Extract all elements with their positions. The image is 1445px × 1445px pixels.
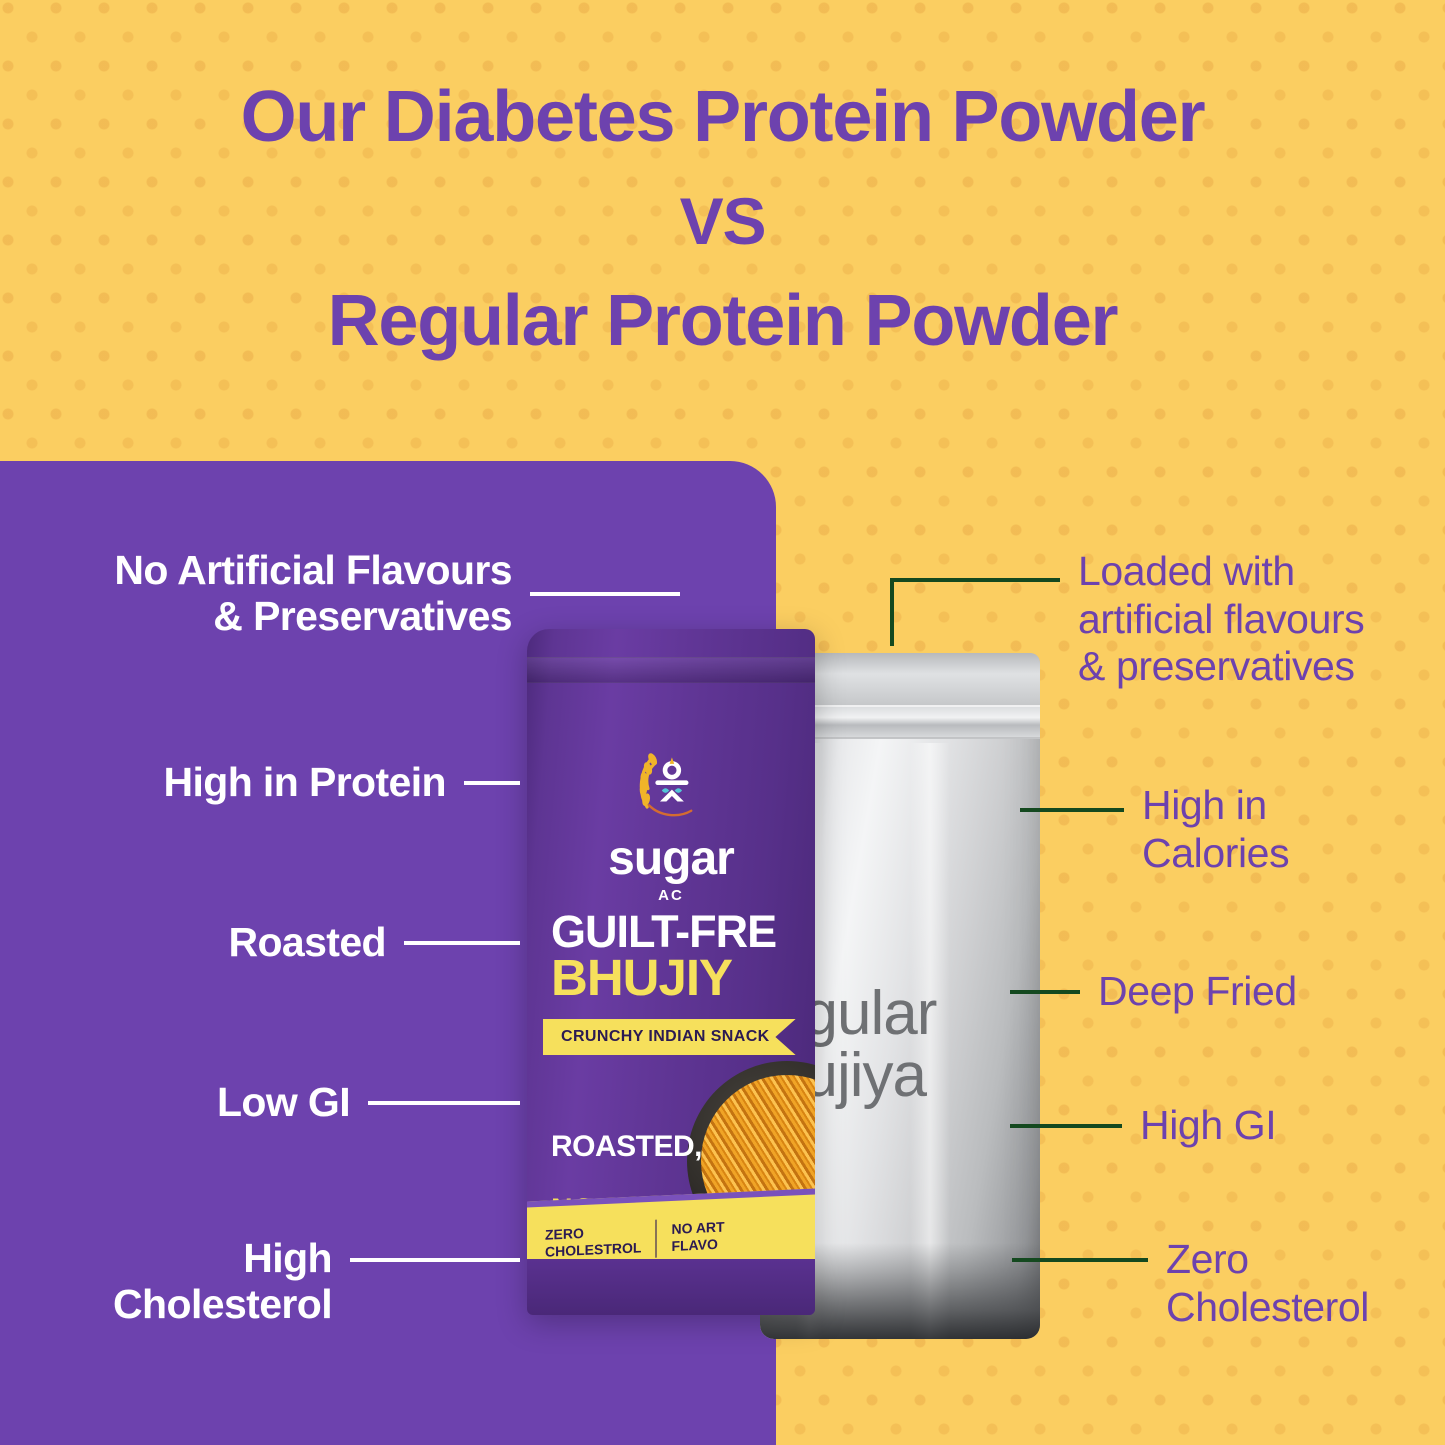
page-title-line-1: Our Diabetes Protein Powder bbox=[241, 78, 1205, 157]
callout-right-label-3: Deep Fried bbox=[1098, 968, 1297, 1016]
callout-left-label-2: High in Protein bbox=[163, 760, 446, 806]
callout-left-label-5: High Cholesterol bbox=[113, 1236, 332, 1328]
header: Our Diabetes Protein Powder VS Regular P… bbox=[0, 0, 1445, 462]
callout-left-3: Roasted bbox=[0, 920, 520, 966]
callout-right-connector-4 bbox=[1010, 1124, 1122, 1128]
callout-left-label-3: Roasted bbox=[228, 920, 386, 966]
callout-right-3: Deep Fried bbox=[1010, 968, 1445, 1016]
callout-right-label-1: Loaded with artificial flavours & preser… bbox=[1078, 548, 1364, 691]
page-title-line-2: Regular Protein Powder bbox=[328, 282, 1118, 361]
callout-right-5: Zero Cholesterol bbox=[1012, 1236, 1445, 1331]
callout-left-4: Low GI bbox=[0, 1080, 520, 1126]
callout-left-connector-2 bbox=[464, 781, 520, 785]
callout-right-2: High in Calories bbox=[1020, 782, 1445, 877]
callout-left-label-1: No Artificial Flavours & Preservatives bbox=[114, 548, 512, 640]
callout-right-label-2: High in Calories bbox=[1142, 782, 1289, 877]
callout-left-1: No Artificial Flavours & Preservatives bbox=[0, 548, 680, 640]
callout-right-label-5: Zero Cholesterol bbox=[1166, 1236, 1369, 1331]
callout-right-elbow-1 bbox=[890, 578, 1060, 646]
callout-left-5: High Cholesterol bbox=[0, 1236, 520, 1328]
callout-left-connector-3 bbox=[404, 941, 520, 945]
callout-right-1: Loaded with artificial flavours & preser… bbox=[1060, 548, 1445, 691]
callout-right-4: High GI bbox=[1010, 1102, 1445, 1150]
page-title-vs: VS bbox=[680, 185, 766, 258]
callout-right-connector-5 bbox=[1012, 1258, 1148, 1262]
callout-left-connector-1 bbox=[530, 592, 680, 596]
callout-right-connector-2 bbox=[1020, 808, 1124, 812]
callout-left-connector-5 bbox=[350, 1258, 520, 1262]
callout-left-2: High in Protein bbox=[0, 760, 520, 806]
callout-left-label-4: Low GI bbox=[217, 1080, 350, 1126]
callout-right-label-4: High GI bbox=[1140, 1102, 1276, 1150]
callout-left-connector-4 bbox=[368, 1101, 520, 1105]
callout-right-connector-3 bbox=[1010, 990, 1080, 994]
